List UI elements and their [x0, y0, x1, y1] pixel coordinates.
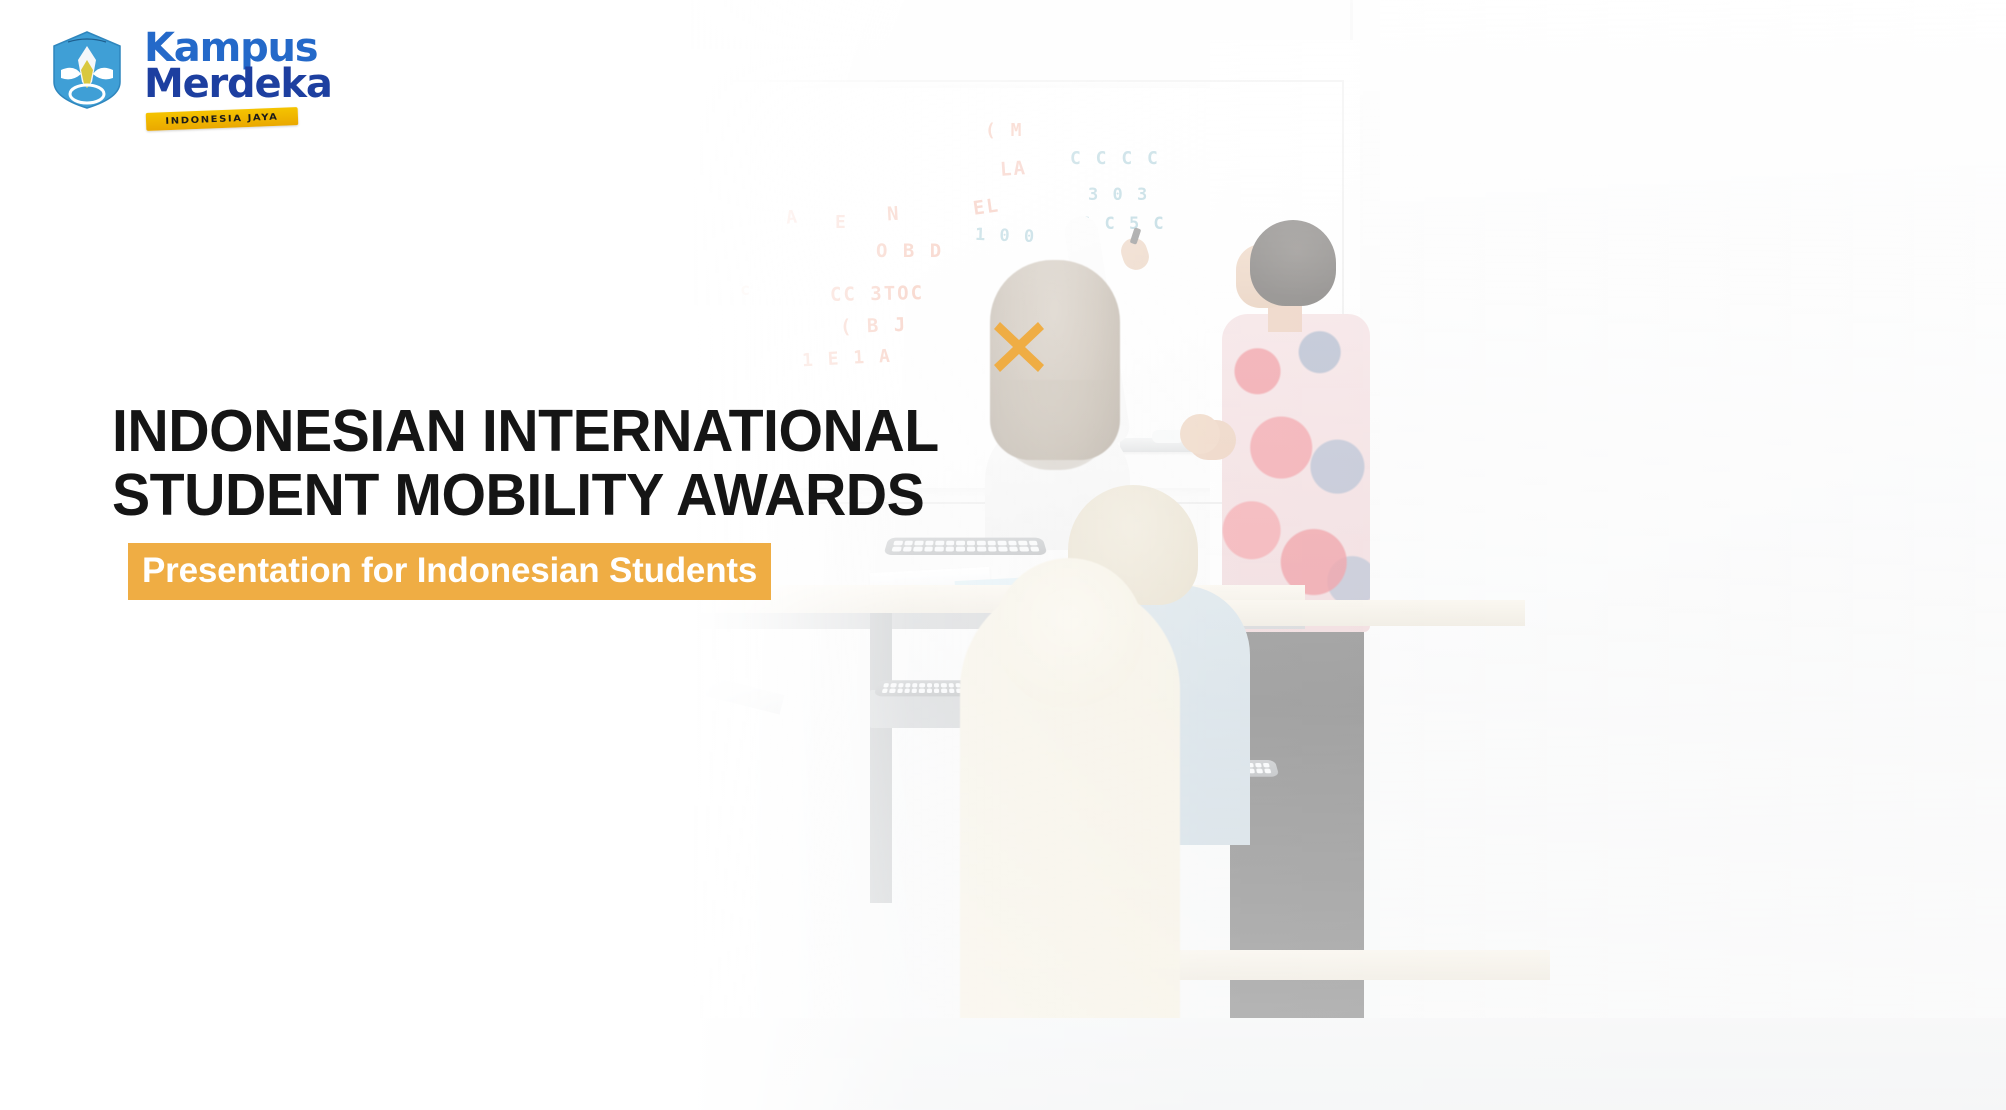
whiteboard-mark: N	[886, 203, 901, 226]
whiteboard-mark: 1 0 0	[975, 225, 1037, 247]
whiteboard-mark: LA	[999, 157, 1027, 181]
whiteboard-mark: ( B J	[840, 314, 908, 338]
presentation-slide: LAEL1 0 0AENO B DcCC 3TOC( B J1 E 1 AC C…	[0, 0, 2006, 1110]
keyboard-back-desk	[883, 538, 1047, 555]
page-title: INDONESIAN INTERNATIONAL STUDENT MOBILIT…	[112, 400, 1052, 527]
whiteboard-mark: O B D	[876, 240, 943, 262]
x-marker-icon	[990, 318, 1048, 376]
logo-ribbon-label: INDONESIA JAYA	[165, 112, 278, 126]
tut-wuri-handayani-emblem-icon	[48, 30, 126, 110]
right-wall	[1380, 0, 2006, 1110]
desk-leg-mid	[870, 613, 892, 903]
kampus-merdeka-logo[interactable]: Kampus Merdeka INDONESIA JAYA	[48, 24, 348, 124]
title-line-2: STUDENT MOBILITY AWARDS	[112, 464, 1024, 528]
whiteboard-mark: 3 0 3	[1088, 185, 1149, 205]
whiteboard-mark: C C C C	[1070, 148, 1160, 169]
floor	[690, 1018, 2006, 1110]
whiteboard-mark: E	[835, 212, 848, 233]
whiteboard-mark: ( M	[985, 120, 1024, 141]
subtitle-label: Presentation for Indonesian Students	[142, 551, 757, 590]
subtitle-band: Presentation for Indonesian Students	[128, 543, 771, 600]
classroom-photo: LAEL1 0 0AENO B DcCC 3TOC( B J1 E 1 AC C…	[690, 0, 2006, 1110]
foreground-desk-top	[1130, 950, 1550, 980]
teacher-hair	[1250, 220, 1336, 306]
wordmark-line-2: Merdeka	[144, 64, 354, 104]
whiteboard-mark: c	[740, 280, 752, 300]
teacher-trousers	[1230, 626, 1364, 1056]
whiteboard-mark: CC 3TOC	[830, 282, 924, 306]
whiteboard-mark: A	[785, 206, 800, 228]
teacher-hand	[1180, 414, 1220, 454]
title-line-1: INDONESIAN INTERNATIONAL	[112, 400, 1024, 464]
kampus-merdeka-wordmark: Kampus Merdeka INDONESIA JAYA	[144, 24, 354, 122]
whiteboard-mark: EL	[972, 194, 1002, 220]
side-desk-top	[1195, 600, 1525, 626]
logo-ribbon: INDONESIA JAYA	[146, 107, 299, 131]
